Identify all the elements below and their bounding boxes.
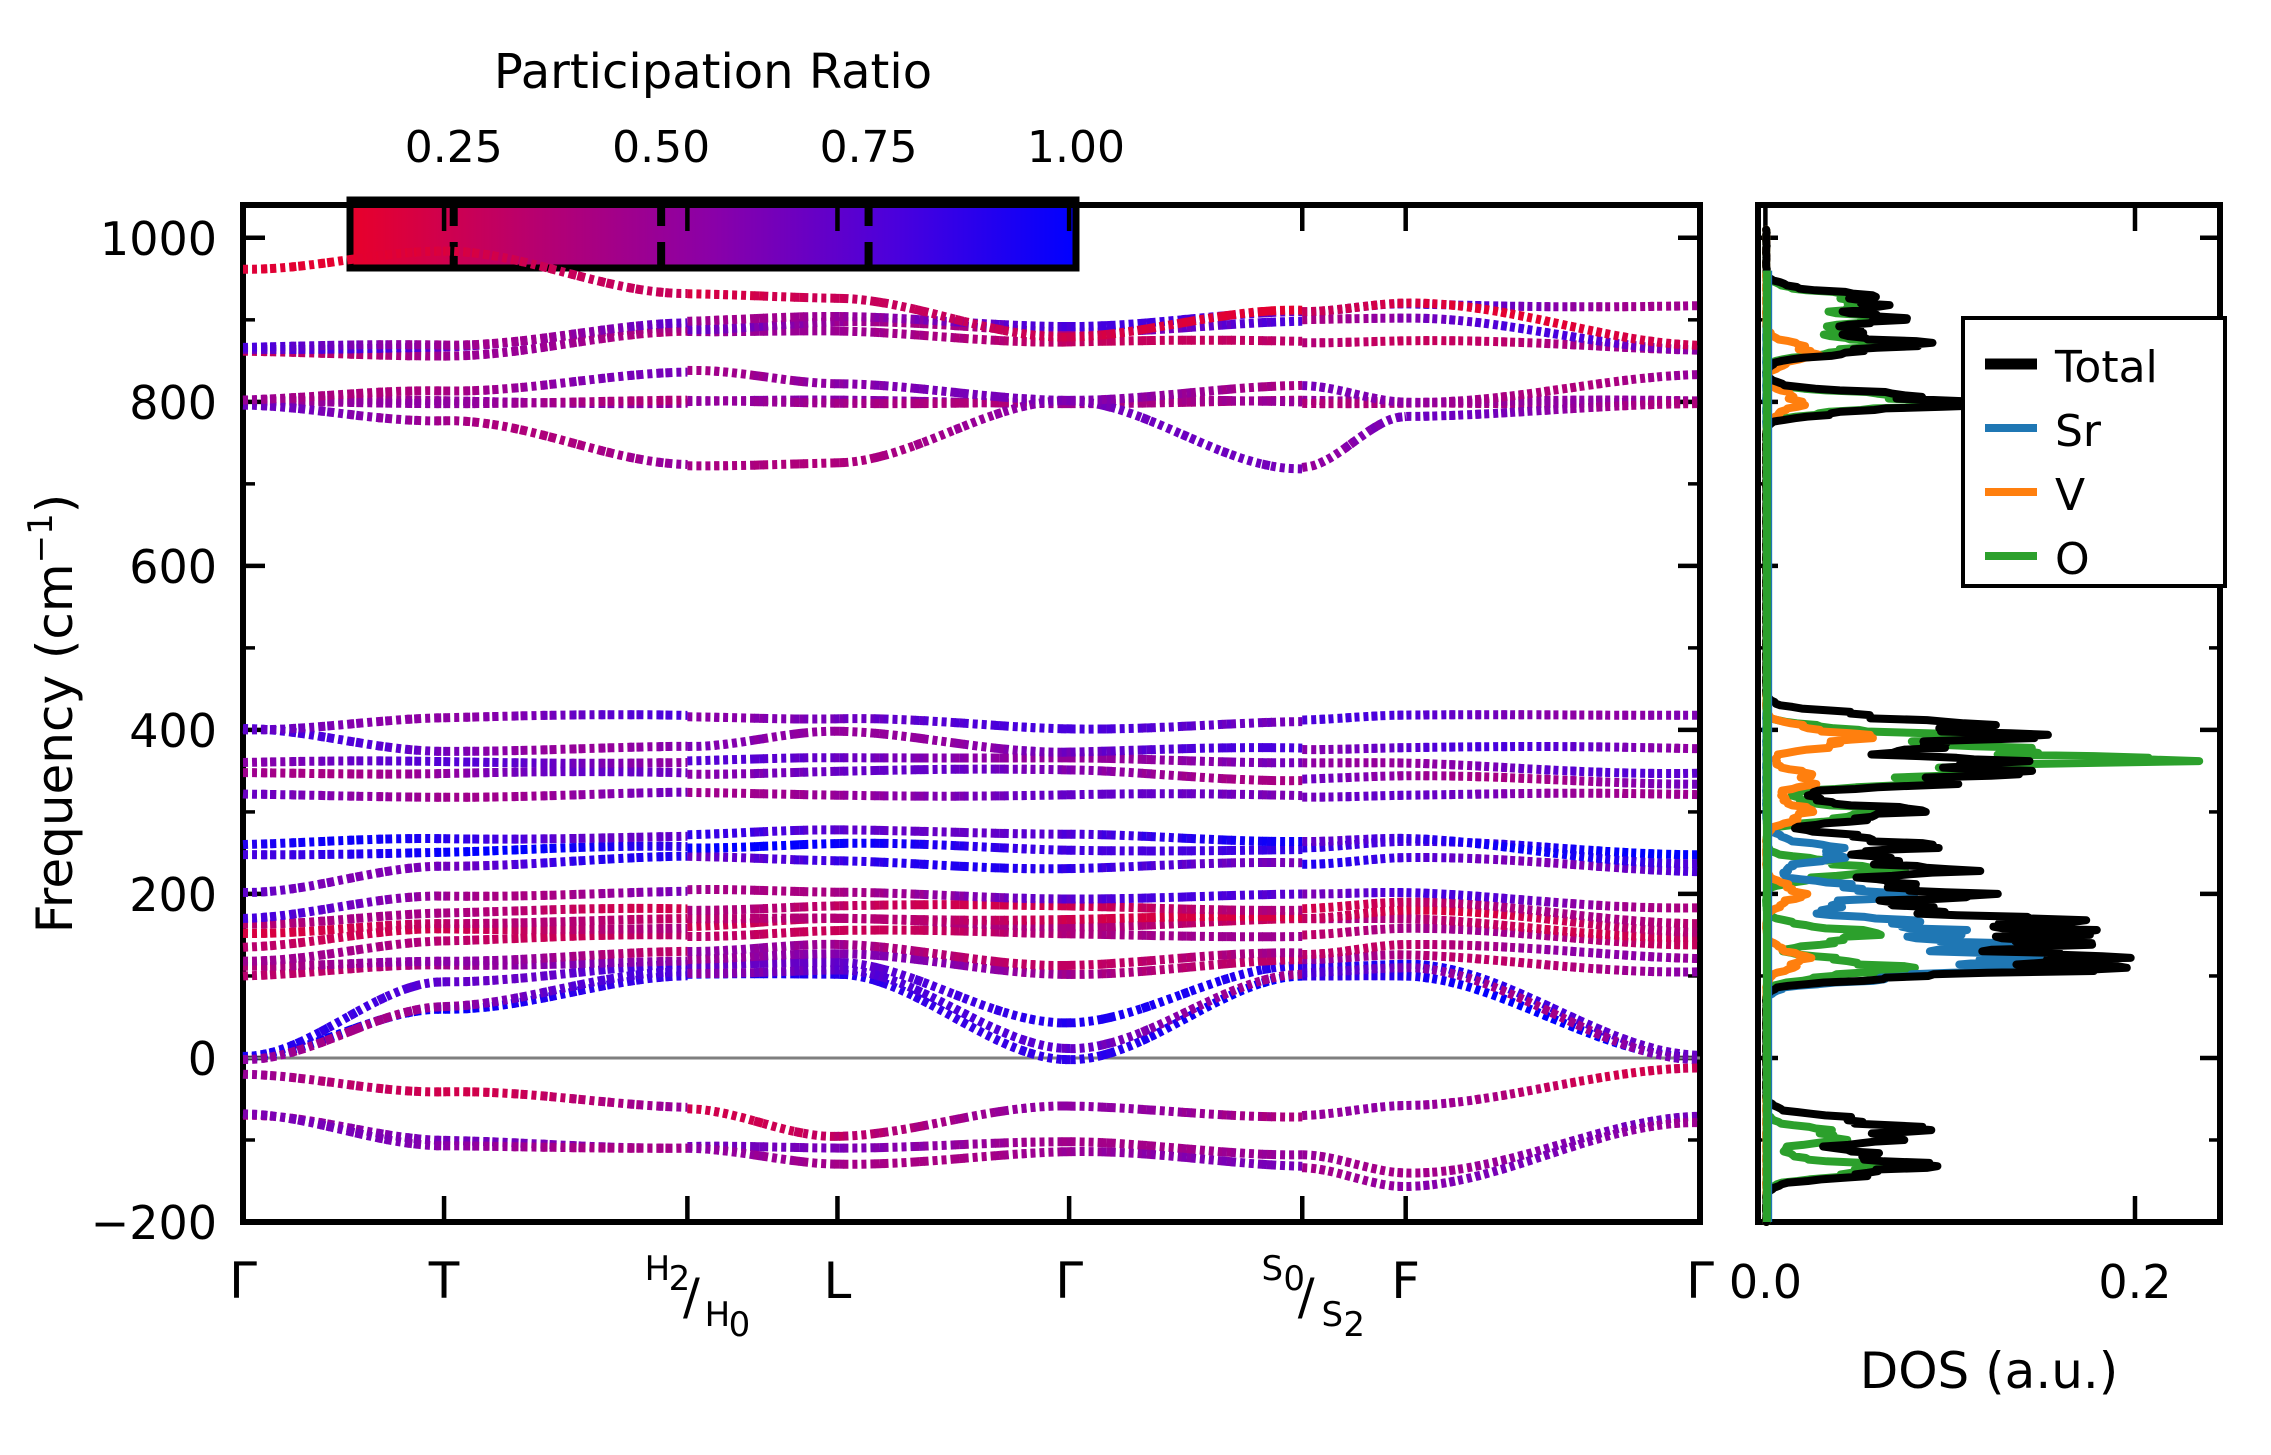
band-branch-segment bbox=[1674, 871, 1700, 872]
band-branch-segment bbox=[1022, 326, 1076, 327]
band-branch-segment bbox=[658, 715, 687, 716]
band-branch-segment bbox=[658, 972, 687, 973]
band-branch-segment bbox=[465, 1092, 494, 1093]
band-curves bbox=[243, 251, 1700, 1186]
band-branch-segment bbox=[1022, 919, 1076, 920]
band-branch-segment bbox=[243, 917, 272, 919]
band-branch-segment bbox=[687, 744, 727, 747]
band-branch-segment bbox=[687, 792, 727, 793]
band-branch-segment bbox=[687, 400, 727, 401]
band-ytick-label: 200 bbox=[129, 868, 217, 922]
band-branch-segment bbox=[714, 947, 768, 951]
band-branch-segment bbox=[1022, 727, 1076, 729]
band-branch-segment bbox=[1022, 1106, 1076, 1109]
band-branch-segment bbox=[1674, 375, 1700, 376]
band-branch-segment bbox=[714, 331, 768, 332]
band-ytick-label: 800 bbox=[129, 376, 217, 430]
band-xtick-label: L bbox=[824, 1252, 852, 1310]
band-xtick-label: F bbox=[1391, 1252, 1420, 1310]
band-branch-segment bbox=[1674, 1058, 1700, 1060]
svg-text:/: / bbox=[1298, 1268, 1315, 1326]
band-branch-segment bbox=[658, 856, 687, 857]
band-branch-segment bbox=[687, 958, 727, 960]
band-branch-segment bbox=[1022, 926, 1076, 927]
band-branch-segment bbox=[714, 326, 768, 329]
band-branch-segment bbox=[714, 956, 768, 959]
colorbar-tick-label: 0.25 bbox=[405, 122, 503, 173]
band-branch-segment bbox=[687, 936, 727, 937]
band-branch-segment bbox=[1674, 344, 1700, 345]
band-branch-segment bbox=[1182, 976, 1236, 994]
band-branch-segment bbox=[1142, 990, 1196, 1009]
band-branch-segment bbox=[687, 329, 727, 330]
legend-label: Sr bbox=[2055, 406, 2102, 457]
band-branch-segment bbox=[1022, 1152, 1076, 1154]
band-branch-segment bbox=[658, 836, 687, 837]
band-branch-segment bbox=[658, 919, 687, 920]
band-branch-segment bbox=[714, 972, 768, 973]
svg-text:Γ: Γ bbox=[1055, 1252, 1083, 1310]
band-branch-segment bbox=[243, 762, 272, 763]
band-branch-segment bbox=[687, 1109, 727, 1114]
band-xtick-label: S0/S2 bbox=[1261, 1249, 1365, 1345]
colorbar-gradient bbox=[350, 200, 1076, 268]
band-branch-segment bbox=[243, 1114, 272, 1116]
band-branch-segment bbox=[687, 760, 727, 761]
band-branch-segment bbox=[714, 717, 768, 718]
band-branch-segment bbox=[1222, 451, 1276, 467]
band-branch-segment bbox=[1022, 795, 1076, 796]
band-branch-segment bbox=[465, 1002, 494, 1006]
band-branch-segment bbox=[1022, 905, 1076, 906]
band-panel-frame bbox=[243, 205, 1700, 1222]
band-branch-segment bbox=[714, 890, 768, 891]
band-branch-segment bbox=[1022, 751, 1076, 753]
band-branch-segment bbox=[465, 939, 494, 940]
band-branch-segment bbox=[658, 961, 687, 962]
band-branch-segment bbox=[1142, 418, 1196, 441]
dos-legend: TotalSrVO bbox=[1963, 318, 2225, 586]
band-branch-segment bbox=[714, 934, 768, 937]
band-branch-segment bbox=[687, 856, 727, 857]
band-branch-segment bbox=[243, 946, 272, 948]
band-branch-segment bbox=[687, 294, 727, 295]
svg-text:H: H bbox=[645, 1249, 671, 1289]
band-branch-segment bbox=[714, 846, 768, 848]
band-branch-segment bbox=[658, 372, 687, 373]
band-branch-segment bbox=[1674, 1116, 1700, 1118]
colorbar-tick-label: 1.00 bbox=[1027, 122, 1125, 173]
band-branch-segment bbox=[1182, 434, 1236, 456]
band-branch-segment bbox=[687, 833, 727, 834]
band-branch-segment bbox=[1674, 931, 1700, 932]
band-branch-segment bbox=[465, 354, 494, 356]
legend-label: O bbox=[2055, 534, 2090, 585]
band-branch-segment bbox=[243, 794, 272, 795]
band-branch-segment bbox=[714, 465, 768, 466]
band-branch-segment bbox=[687, 370, 727, 372]
band-branch-segment bbox=[714, 318, 768, 320]
dos-xtick-label: 0.2 bbox=[2098, 1255, 2171, 1309]
band-branch-segment bbox=[687, 717, 727, 718]
band-branch-segment bbox=[465, 912, 494, 913]
band-branch-segment bbox=[714, 793, 768, 794]
colorbar-title: Participation Ratio bbox=[494, 44, 932, 100]
band-ytick-label: 400 bbox=[129, 704, 217, 758]
band-branch-segment bbox=[1674, 748, 1700, 749]
band-branch-segment bbox=[243, 1074, 272, 1075]
band-branch-segment bbox=[465, 851, 494, 852]
band-branch-segment bbox=[465, 773, 494, 774]
band-xtick-label: Γ bbox=[229, 1252, 257, 1310]
band-branch-segment bbox=[1674, 1068, 1700, 1069]
band-panel: 10008006004002000−200ΓTH2/H0LΓS0/S2FΓFre… bbox=[21, 205, 1714, 1345]
band-branch-segment bbox=[465, 390, 494, 391]
band-branch-segment bbox=[714, 294, 768, 296]
band-branch-segment bbox=[465, 865, 494, 866]
band-branch-segment bbox=[1022, 334, 1076, 338]
band-ylabel: Frequency (cm−1) bbox=[21, 494, 84, 934]
band-branch-segment bbox=[658, 292, 687, 294]
band-branch-segment bbox=[243, 960, 272, 961]
band-ytick-label: 0 bbox=[188, 1032, 217, 1086]
band-ytick-label: −200 bbox=[91, 1196, 217, 1250]
band-branch-segment bbox=[465, 717, 494, 718]
band-branch-segment bbox=[714, 738, 768, 745]
band-branch-segment bbox=[243, 975, 272, 976]
svg-text:/: / bbox=[683, 1268, 700, 1326]
dos-xtick-label: 0.0 bbox=[1729, 1255, 1802, 1309]
dos-xlabel: DOS (a.u.) bbox=[1860, 1342, 2119, 1400]
band-branch-segment bbox=[714, 1146, 768, 1147]
band-branch-segment bbox=[1674, 923, 1700, 924]
band-branch-segment bbox=[465, 343, 494, 345]
svg-text:S: S bbox=[1321, 1295, 1343, 1335]
svg-text:2: 2 bbox=[1343, 1305, 1365, 1345]
band-xtick-label: Γ bbox=[1686, 1252, 1714, 1310]
legend-label: Total bbox=[2054, 342, 2158, 393]
band-branch-segment bbox=[1674, 958, 1700, 959]
svg-text:S: S bbox=[1261, 1249, 1283, 1289]
band-xtick-label: H2/H0 bbox=[645, 1249, 751, 1345]
band-branch-segment bbox=[243, 844, 272, 845]
svg-text:H: H bbox=[705, 1295, 731, 1335]
band-branch-segment bbox=[1022, 769, 1076, 770]
band-xtick-label: T bbox=[428, 1252, 460, 1310]
band-branch-segment bbox=[687, 950, 727, 951]
band-branch-segment bbox=[658, 891, 687, 892]
band-branch-segment bbox=[714, 401, 768, 402]
band-branch-segment bbox=[687, 925, 727, 927]
band-branch-segment bbox=[1674, 1123, 1700, 1124]
figure-canvas: Participation Ratio0.250.500.751.0010008… bbox=[0, 0, 2271, 1455]
band-branch-segment bbox=[658, 951, 687, 952]
svg-text:0: 0 bbox=[729, 1305, 751, 1345]
band-branch-segment bbox=[1022, 933, 1076, 934]
band-branch-segment bbox=[658, 323, 687, 324]
band-branch-segment bbox=[1022, 849, 1076, 851]
band-branch-segment bbox=[955, 995, 1009, 1014]
band-branch-segment bbox=[714, 918, 768, 919]
band-branch-segment bbox=[714, 832, 768, 834]
band-branch-segment bbox=[714, 773, 768, 774]
band-branch-segment bbox=[465, 421, 494, 424]
band-branch-segment bbox=[714, 857, 768, 859]
colorbar-tick-label: 0.50 bbox=[612, 122, 710, 173]
svg-text:L: L bbox=[824, 1252, 852, 1310]
band-branch-segment bbox=[658, 772, 687, 773]
band-branch-segment bbox=[1022, 898, 1076, 899]
band-branch-segment bbox=[1022, 1142, 1076, 1143]
band-branch-segment bbox=[243, 347, 272, 348]
band-branch-segment bbox=[243, 405, 272, 406]
colorbar: Participation Ratio0.250.500.751.00 bbox=[350, 44, 1125, 268]
phonon-figure: Participation Ratio0.250.500.751.0010008… bbox=[0, 0, 2271, 1455]
band-branch-segment bbox=[658, 462, 687, 464]
svg-text:Γ: Γ bbox=[1686, 1252, 1714, 1310]
band-branch-segment bbox=[465, 961, 494, 962]
svg-text:F: F bbox=[1391, 1252, 1420, 1310]
band-branch-segment bbox=[714, 909, 768, 911]
band-branch-segment bbox=[658, 1106, 687, 1107]
band-ytick-label: 1000 bbox=[100, 212, 217, 266]
band-branch-segment bbox=[687, 320, 727, 321]
band-branch-segment bbox=[1022, 964, 1076, 966]
colorbar-tick-label: 0.75 bbox=[820, 122, 918, 173]
band-branch-segment bbox=[465, 980, 494, 981]
svg-text:Frequency (cm−1): Frequency (cm−1) bbox=[21, 494, 84, 934]
svg-text:Γ: Γ bbox=[229, 1252, 257, 1310]
band-branch-segment bbox=[955, 411, 1009, 430]
band-branch-segment bbox=[1022, 342, 1076, 343]
band-branch-segment bbox=[714, 963, 768, 964]
band-branch-segment bbox=[995, 1029, 1035, 1044]
band-ytick-label: 600 bbox=[129, 540, 217, 594]
band-xtick-label: Γ bbox=[1055, 1252, 1083, 1310]
band-branch-segment bbox=[243, 269, 272, 270]
band-branch-segment bbox=[687, 1148, 727, 1151]
band-branch-segment bbox=[714, 759, 768, 761]
band-branch-segment bbox=[1022, 972, 1076, 974]
svg-text:T: T bbox=[428, 1252, 460, 1310]
band-branch-segment bbox=[915, 425, 969, 446]
legend-label: V bbox=[2055, 470, 2085, 521]
